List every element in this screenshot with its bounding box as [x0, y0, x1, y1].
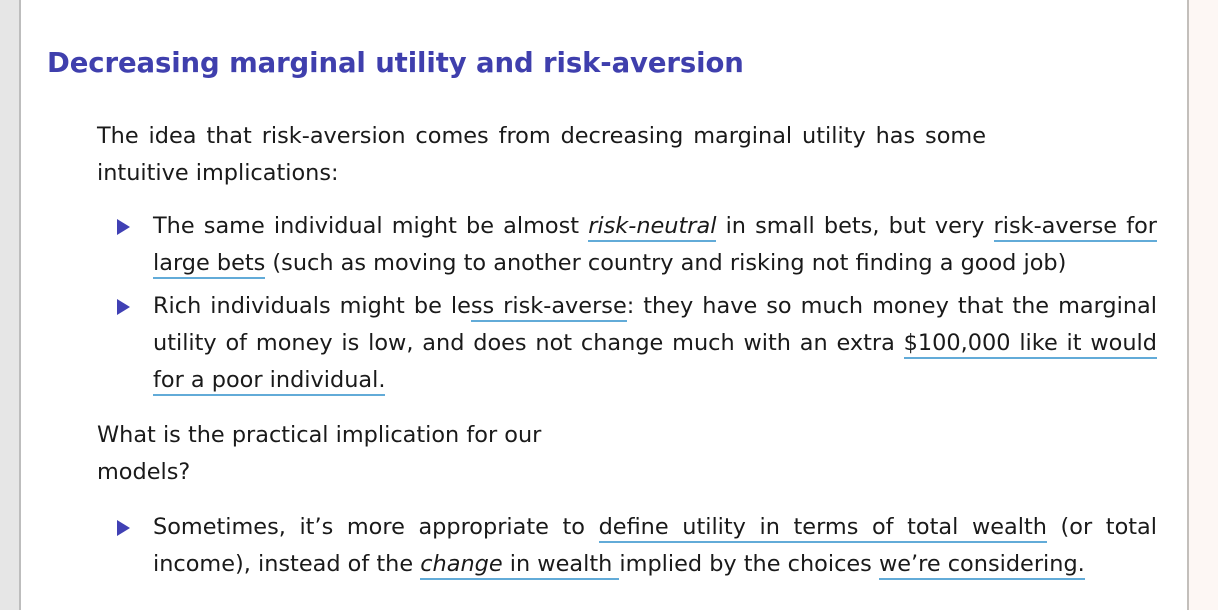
- text-segment: The same individual might be almost: [153, 213, 588, 239]
- slide-body: The idea that risk-aversion comes from d…: [21, 118, 1187, 583]
- spacer: [21, 491, 1187, 509]
- bullet-text-3: Sometimes, it’s more appropriate to defi…: [153, 514, 1157, 580]
- right-page-gutter: [1189, 0, 1218, 610]
- annotated-term-change: change: [420, 551, 502, 580]
- text-segment: implied by the choices: [619, 551, 879, 577]
- list-item: The same individual might be almost risk…: [21, 208, 1187, 282]
- bullet-text-2: Rich individuals might be less risk-aver…: [153, 293, 1157, 396]
- list-item: Rich individuals might be less risk-aver…: [21, 288, 1187, 399]
- triangle-right-bullet-icon: [117, 299, 130, 315]
- annotated-term-total-wealth: define utility in terms of total wealth: [599, 514, 1047, 543]
- left-page-gutter: [0, 0, 19, 610]
- lead-paragraph: The idea that risk-aversion comes from d…: [21, 118, 1026, 192]
- bullet-text-1: The same individual might be almost risk…: [153, 213, 1157, 279]
- annotated-term-less-risk-averse: ss risk-averse: [471, 293, 627, 322]
- text-segment: (such as moving to another country and r…: [265, 250, 1066, 276]
- list-item: Sometimes, it’s more appropriate to defi…: [21, 509, 1187, 583]
- annotated-term-risk-neutral: risk-neutral: [588, 213, 716, 242]
- slide-viewport: Decreasing marginal utility and risk-ave…: [0, 0, 1218, 610]
- text-segment: in small bets, but very: [716, 213, 993, 239]
- page-title: Decreasing marginal utility and risk-ave…: [47, 46, 744, 80]
- slide-canvas: Decreasing marginal utility and risk-ave…: [21, 0, 1187, 610]
- triangle-right-bullet-icon: [117, 219, 130, 235]
- text-segment: Rich individuals might be le: [153, 293, 471, 319]
- question-paragraph: What is the practical implication for ou…: [21, 417, 661, 491]
- bullet-list-practical: Sometimes, it’s more appropriate to defi…: [21, 509, 1187, 583]
- text-segment: Sometimes, it’s more appropriate to: [153, 514, 599, 540]
- annotated-term-were-considering: we’re considering.: [879, 551, 1085, 580]
- triangle-right-bullet-icon: [117, 520, 130, 536]
- annotated-term-in-wealth: in wealth: [503, 551, 620, 580]
- spacer: [21, 192, 1187, 208]
- bullet-list-implications: The same individual might be almost risk…: [21, 208, 1187, 399]
- spacer: [21, 399, 1187, 417]
